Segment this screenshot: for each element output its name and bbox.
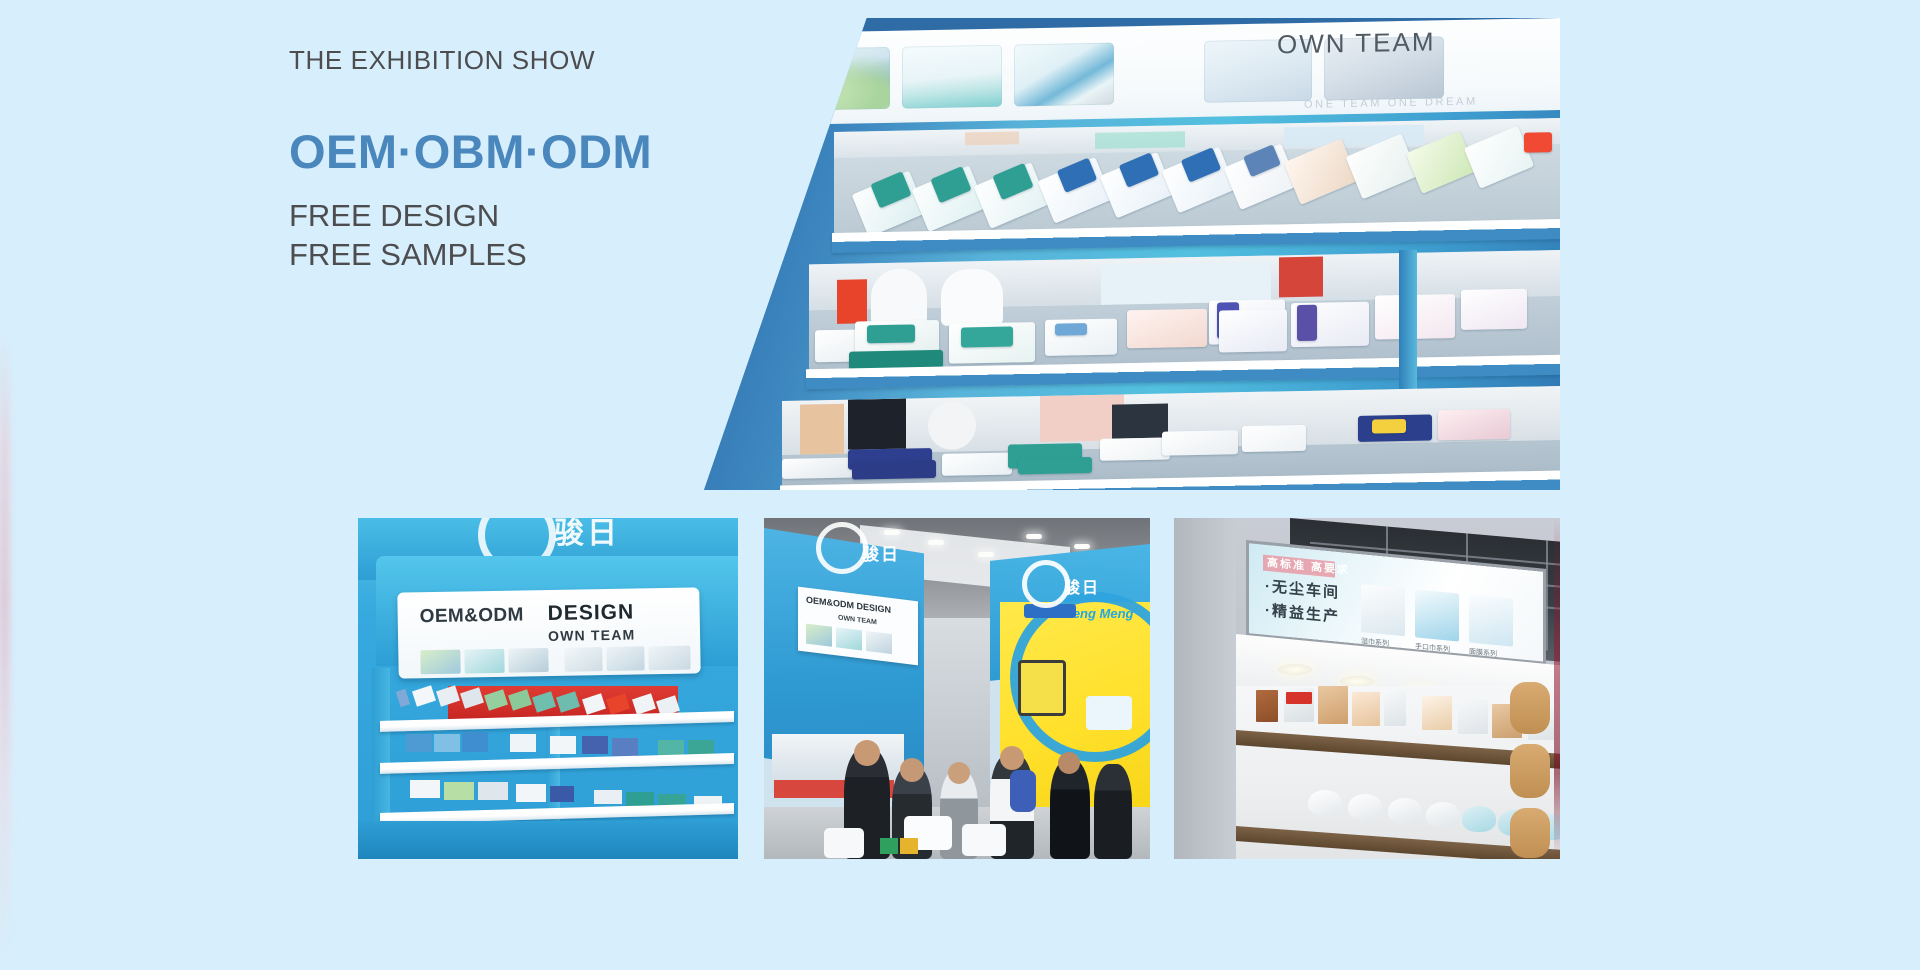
banner-photo-factory <box>790 47 890 111</box>
banner-subtitle: ONE TEAM ONE DREAM <box>1304 96 1478 111</box>
brand-logo-text-secondary: 骏日 <box>1064 574 1100 598</box>
brand-logo-icon <box>816 522 868 574</box>
banner-title: OWN TEAM <box>1277 26 1436 60</box>
brand-logo-icon-secondary <box>1022 560 1070 608</box>
exhibition-booth-hero-photo: OWN TEAM ONE TEAM ONE DREAM <box>704 18 1560 490</box>
kicker-text: THE EXHIBITION SHOW <box>289 46 689 75</box>
sign-photo-6 <box>648 646 690 671</box>
booth-signage-thumbnail[interactable]: 骏日 OEM&ODM DESIGN OWN TEAM <box>358 518 738 859</box>
banner-product-photo-1 <box>1361 584 1405 636</box>
sign-photo-5 <box>606 646 644 671</box>
left-edge-color-bleed <box>0 330 9 970</box>
banner-photo-production-line <box>902 45 1002 109</box>
sign-line-2: DESIGN <box>547 601 634 627</box>
shelf-post-left <box>372 668 390 835</box>
subtitle-line-2: FREE SAMPLES <box>289 235 689 275</box>
hero-subtitle: FREE DESIGN FREE SAMPLES <box>289 196 689 275</box>
brand-logo-text: 骏日 <box>554 518 620 552</box>
banner-line-2: ·精益生产 <box>1265 599 1340 627</box>
sign-photo-1 <box>420 650 460 675</box>
banner-line-1: ·无尘车间 <box>1265 575 1340 603</box>
sign-photo-3 <box>508 648 548 673</box>
oem-odm-lightbox-sign: OEM&ODM DESIGN OWN TEAM <box>397 587 700 678</box>
subtitle-line-1: FREE DESIGN <box>289 196 689 236</box>
thumb1-booth-base <box>358 821 738 859</box>
sign-photo-2 <box>464 649 504 674</box>
showroom-pillar <box>1174 518 1236 859</box>
hero-copy-block: THE EXHIBITION SHOW OEM·OBM·ODM FREE DES… <box>289 46 689 275</box>
sign-line-1: OEM&ODM <box>420 604 525 628</box>
booth-visitors-thumbnail[interactable]: Meng Meng 骏日 骏日 OEM&ODM DESIGN OWN TEAM <box>764 518 1150 859</box>
brand-logo-text: 骏日 <box>862 540 900 565</box>
banner-photo-machinery <box>1014 43 1114 107</box>
sign-photo-4 <box>564 647 602 672</box>
page-title: OEM·OBM·ODM <box>289 128 689 175</box>
sign-line-2: OWN TEAM <box>838 615 877 627</box>
sign-line-3: OWN TEAM <box>548 626 636 644</box>
booth-top-banner: OWN TEAM ONE TEAM ONE DREAM <box>704 18 1560 126</box>
banner-product-photo-3 <box>1469 594 1513 646</box>
cleanroom-display-thumbnail[interactable]: 高标准 高要求 ·无尘车间 ·精益生产 湿巾系列 手口巾系列 面膜系列 <box>1174 518 1560 859</box>
banner-product-photo-2 <box>1415 589 1459 641</box>
display-cabinet <box>1236 686 1560 859</box>
sign-line-1: OEM&ODM DESIGN <box>806 595 891 615</box>
